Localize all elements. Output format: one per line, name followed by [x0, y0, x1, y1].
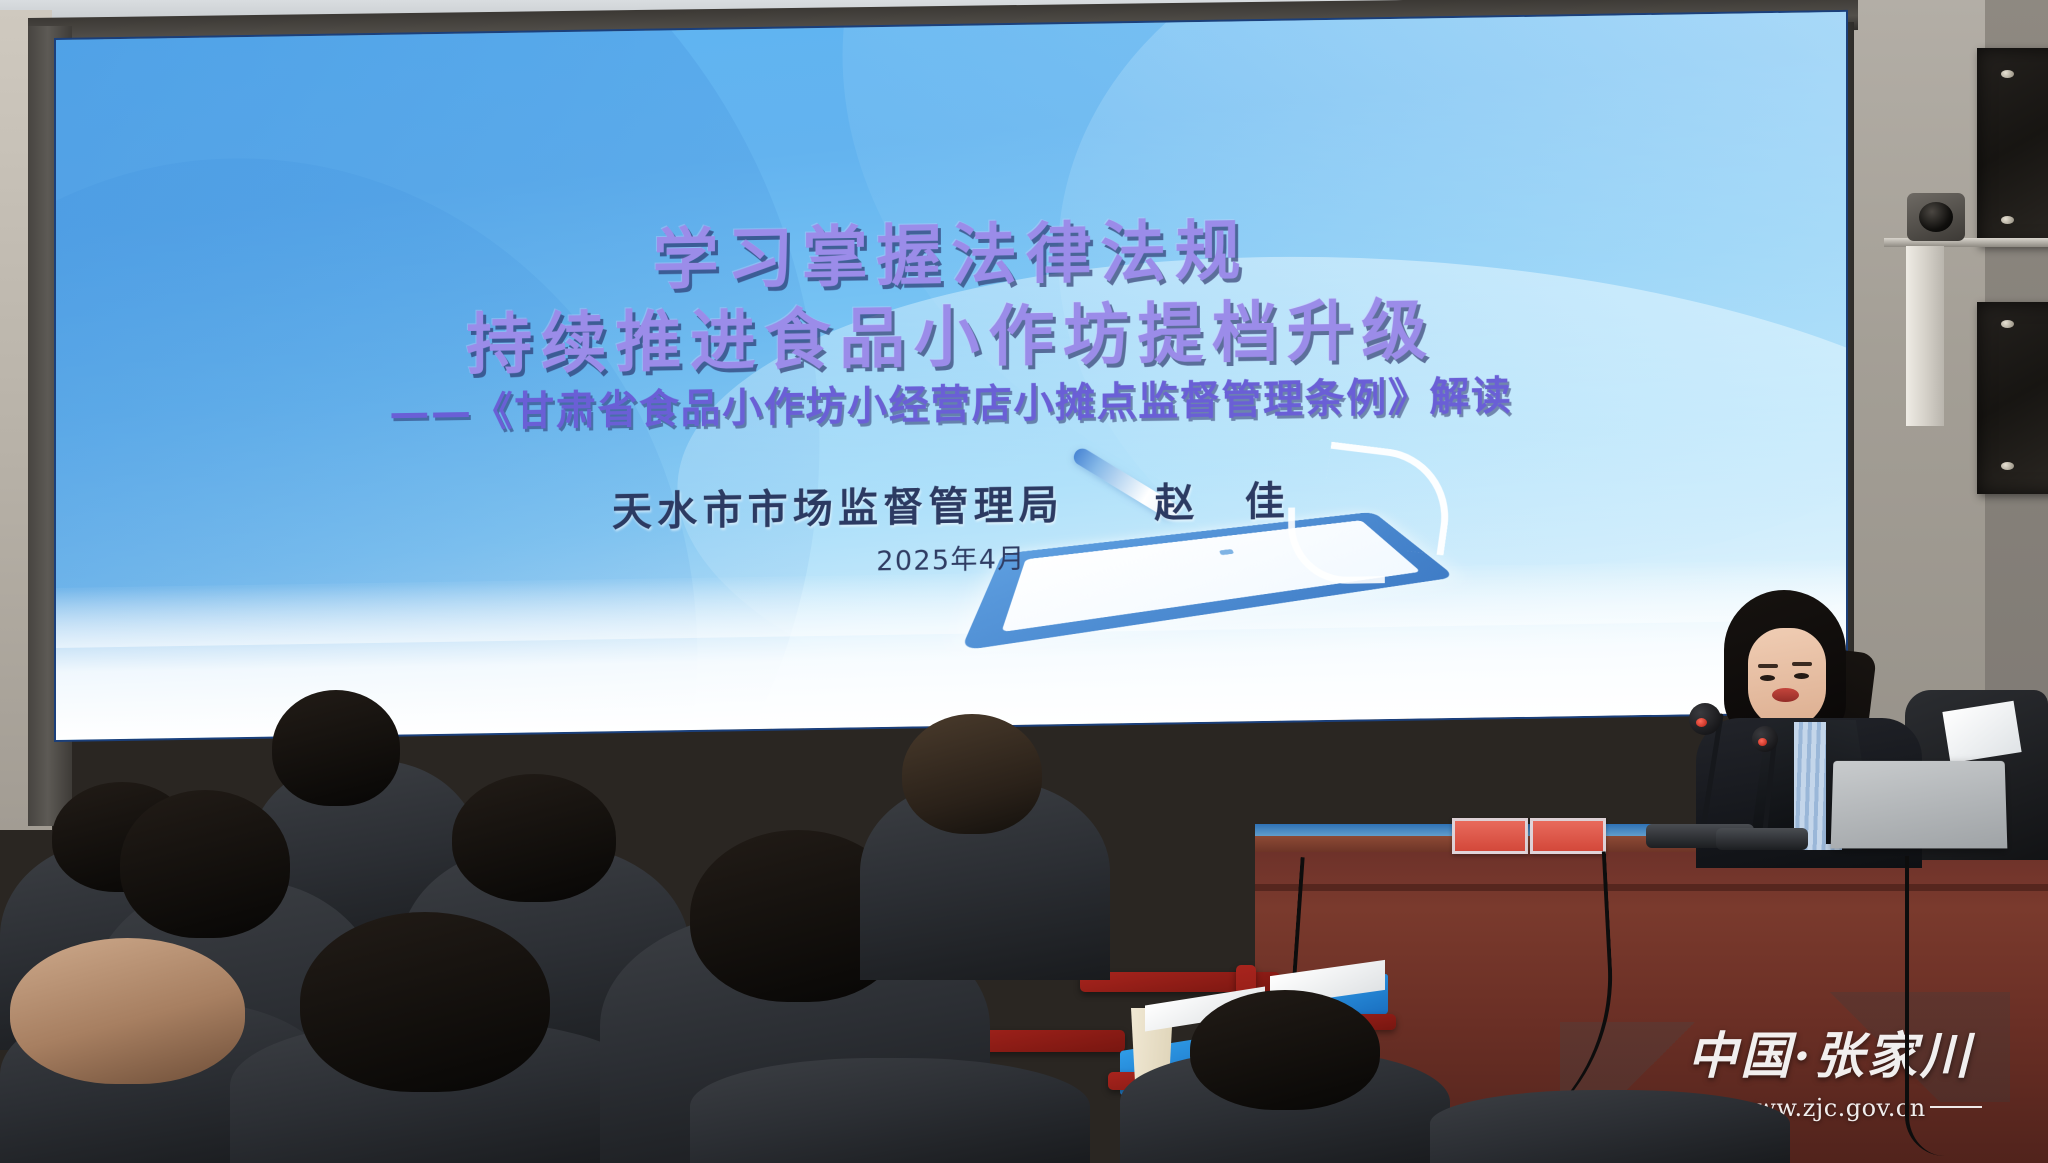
laptop-icon — [1831, 761, 2008, 849]
nameplate-left — [1452, 818, 1528, 854]
wall-speaker-bottom-icon — [1977, 302, 2048, 494]
audience-head-9 — [1190, 990, 1380, 1110]
audience-head-1 — [272, 690, 400, 806]
audience-suit-10 — [690, 1058, 1090, 1163]
presenter-org: 天水市市场监督管理局 — [612, 482, 1064, 535]
audience-head-3 — [120, 790, 290, 938]
audience-head-8 — [902, 714, 1042, 834]
audience-head-5 — [452, 774, 616, 902]
slide-text-block: 学习掌握法律法规 持续推进食品小作坊提档升级 ——《甘肃省食品小作坊小经营店小摊… — [56, 12, 1846, 740]
microphone-right-led — [1758, 738, 1767, 746]
presenter-mouth — [1772, 688, 1799, 702]
nameplate-right — [1530, 818, 1606, 854]
wall-trim-strip — [1906, 246, 1944, 426]
projection-screen: 学习掌握法律法规 持续推进食品小作坊提档升级 ——《甘肃省食品小作坊小经营店小摊… — [56, 12, 1846, 740]
audience-suit-11 — [1430, 1090, 1790, 1163]
ptz-camera-icon — [1907, 193, 1965, 241]
microphone-left-led — [1696, 718, 1707, 727]
wall-speaker-top-icon — [1977, 48, 2048, 246]
presenter-face — [1748, 628, 1826, 728]
cable-3 — [1905, 856, 1949, 1156]
held-paper — [1942, 701, 2021, 764]
audience-head-6 — [300, 912, 550, 1092]
presenter-name: 赵 佳 — [1154, 479, 1290, 527]
photograph-scene: 学习掌握法律法规 持续推进食品小作坊提档升级 ——《甘肃省食品小作坊小经营店小摊… — [0, 0, 2048, 1163]
audience-head-4-bald — [10, 938, 245, 1084]
microphone-right-base — [1716, 828, 1808, 850]
